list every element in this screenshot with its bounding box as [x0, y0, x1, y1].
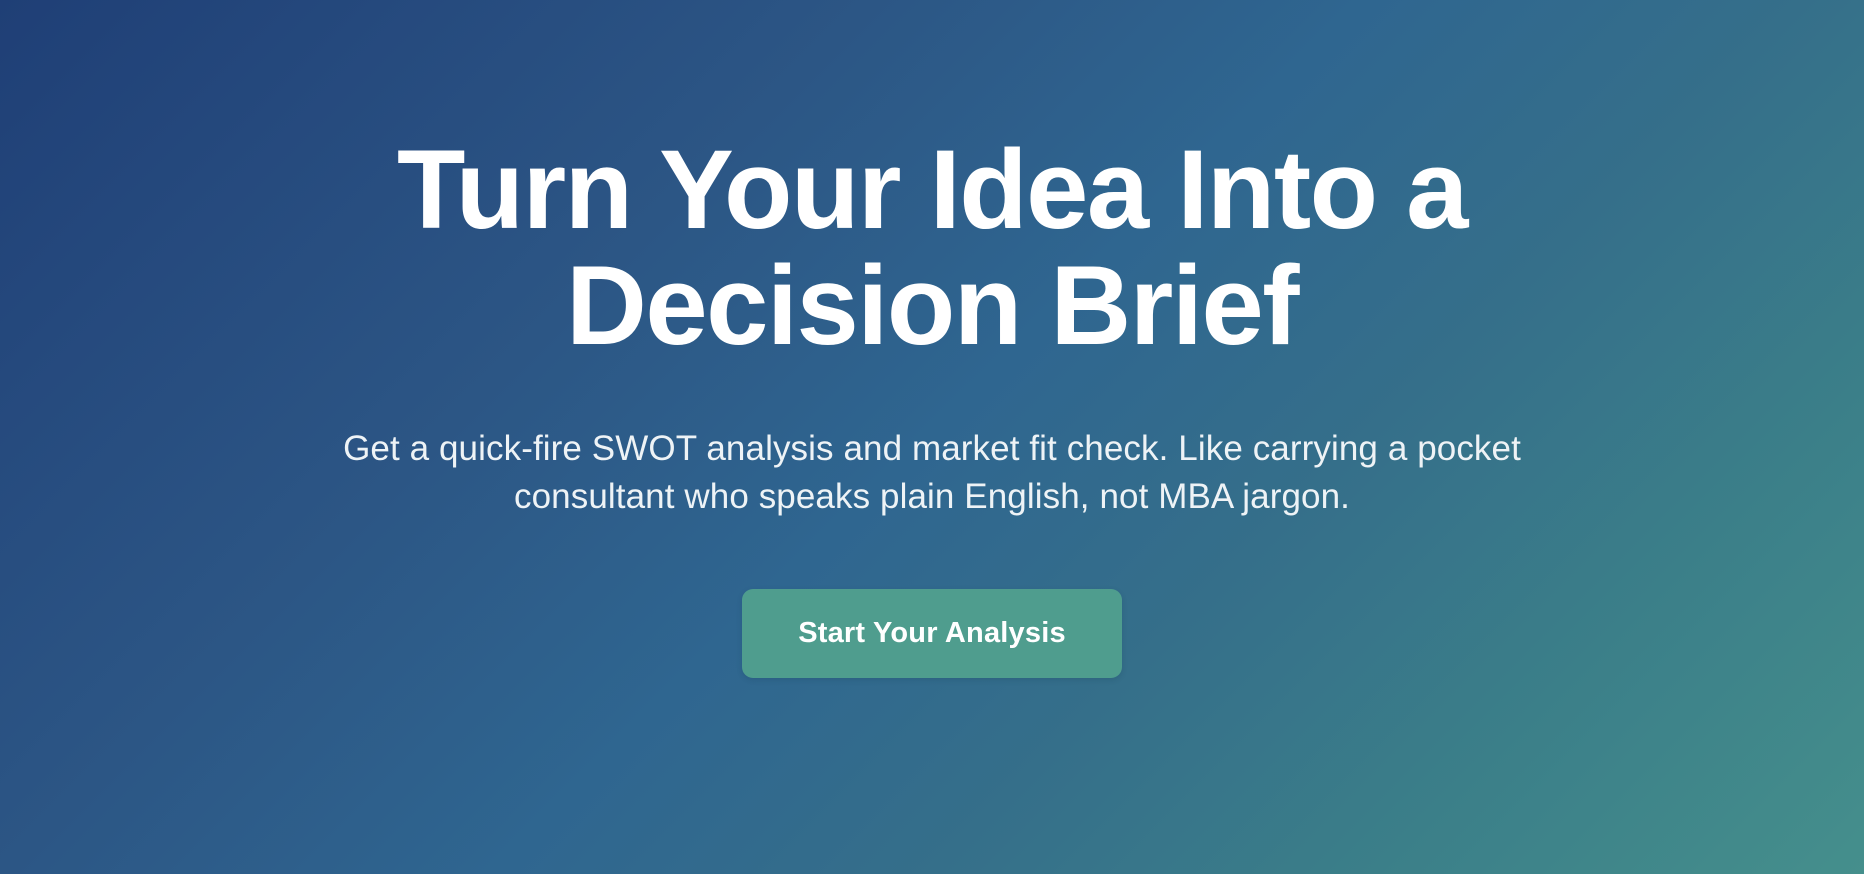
page-title: Turn Your Idea Into a Decision Brief	[367, 132, 1497, 365]
hero-content: Turn Your Idea Into a Decision Brief Get…	[332, 132, 1532, 678]
hero-subtitle: Get a quick-fire SWOT analysis and marke…	[332, 425, 1532, 522]
start-your-analysis-button[interactable]: Start Your Analysis	[742, 589, 1122, 678]
hero-section: Turn Your Idea Into a Decision Brief Get…	[0, 0, 1864, 874]
cta-container: Start Your Analysis	[742, 589, 1122, 678]
